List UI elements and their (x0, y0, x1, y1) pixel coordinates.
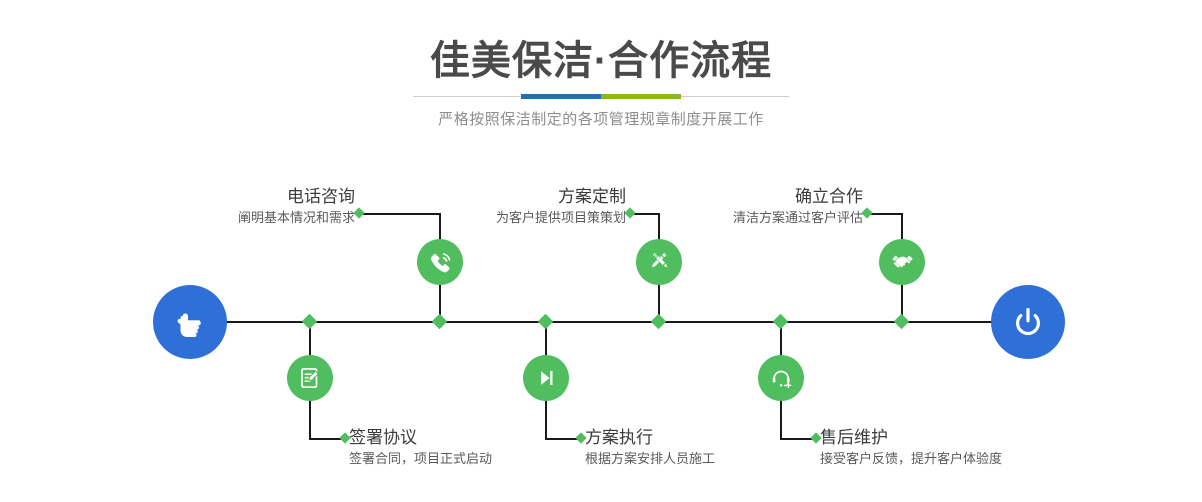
step-title-3: 方案定制 (420, 186, 626, 208)
step-node-4[interactable] (523, 355, 569, 401)
step-desc-6: 接受客户反馈，提升客户体验度 (820, 449, 1080, 469)
step-node-6[interactable] (758, 355, 804, 401)
phone-call-icon (427, 249, 454, 276)
axis-marker-step-5 (894, 314, 910, 330)
step-title-6: 售后维护 (820, 427, 1080, 449)
step-desc-2: 签署合同，项目正式启动 (349, 449, 579, 469)
step-title-1: 电话咨询 (148, 186, 355, 208)
axis-marker-step-4 (538, 314, 554, 330)
divider-blue-segment (521, 94, 601, 99)
pointing-hand-icon (170, 302, 210, 342)
step-label-6: 售后维护 接受客户反馈，提升客户体验度 (820, 427, 1080, 469)
step-label-3: 方案定制 为客户提供项目策策划 (420, 186, 626, 228)
label-marker-step-1 (353, 207, 364, 218)
step-title-5: 确立合作 (655, 186, 863, 208)
step-desc-3: 为客户提供项目策策划 (420, 208, 626, 228)
step-desc-5: 清洁方案通过客户评估 (655, 208, 863, 228)
pencil-ruler-icon (646, 249, 673, 276)
axis-marker-step-2 (302, 314, 318, 330)
timeline-end-marker (991, 285, 1065, 359)
document-sign-icon (297, 365, 323, 391)
page-header: 佳美保洁·合作流程 严格按照保洁制定的各项管理规章制度开展工作 (0, 0, 1202, 130)
label-marker-step-5 (861, 207, 872, 218)
axis-marker-step-1 (432, 314, 448, 330)
step-node-1[interactable] (417, 239, 463, 285)
step-node-3[interactable] (636, 239, 682, 285)
step-label-1: 电话咨询 阐明基本情况和需求 (148, 186, 355, 228)
step-desc-1: 阐明基本情况和需求 (148, 208, 355, 228)
step-node-5[interactable] (879, 239, 925, 285)
support-agent-add-icon (768, 365, 794, 391)
handshake-icon (889, 249, 916, 276)
play-execute-icon (533, 365, 559, 391)
step-node-2[interactable] (287, 355, 333, 401)
title-divider (0, 94, 1202, 99)
flow-diagram-page: 佳美保洁·合作流程 严格按照保洁制定的各项管理规章制度开展工作 (0, 0, 1202, 502)
power-icon (1008, 302, 1048, 342)
axis-marker-step-3 (651, 314, 667, 330)
timeline-start-marker (153, 285, 227, 359)
label-marker-step-3 (624, 207, 635, 218)
page-subtitle: 严格按照保洁制定的各项管理规章制度开展工作 (0, 99, 1202, 130)
divider-green-segment (601, 94, 681, 99)
connector-arm-step-5 (871, 213, 903, 215)
axis-marker-step-6 (773, 314, 789, 330)
page-title: 佳美保洁·合作流程 (0, 0, 1202, 86)
step-desc-4: 根据方案安排人员施工 (585, 449, 815, 469)
step-label-5: 确立合作 清洁方案通过客户评估 (655, 186, 863, 228)
